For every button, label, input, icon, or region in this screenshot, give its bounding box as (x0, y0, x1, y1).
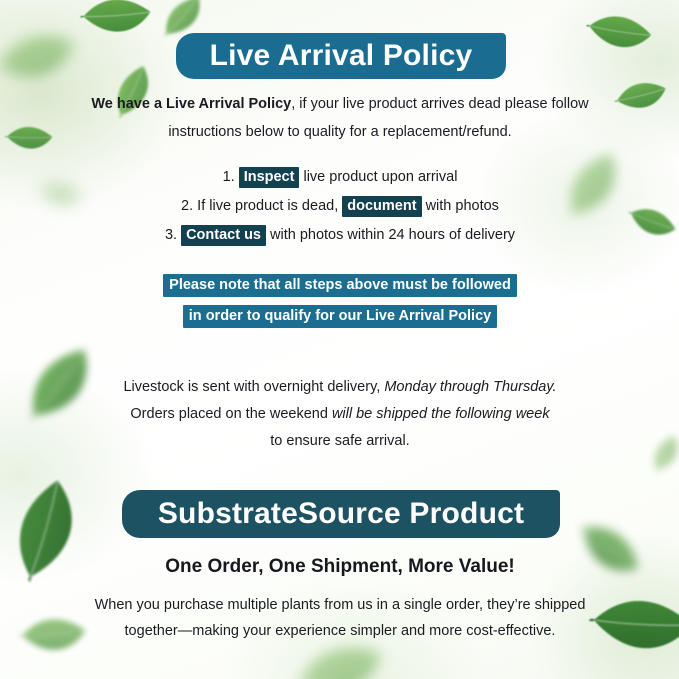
leaf-left-blur-top-icon (0, 20, 78, 95)
step-2-number: 2. (181, 198, 193, 214)
policy-notice-block: Please note that all steps above must be… (60, 272, 620, 334)
policy-step-3: 3. Contact us with photos within 24 hour… (60, 221, 620, 250)
closing-paragraph: When you purchase multiple plants from u… (60, 592, 620, 644)
leaf-right-mid-icon (625, 194, 679, 250)
leaf-left-small-icon (3, 113, 56, 162)
leaf-top-center-icon (77, 0, 154, 52)
policy-step-2: 2. If live product is dead, document wit… (60, 192, 620, 221)
step-1-text: live product upon arrival (303, 169, 457, 185)
step-2-highlight-document: document (342, 196, 421, 217)
livestock-line-1-italic: Monday through Thursday. (384, 379, 556, 395)
value-tagline: One Order, One Shipment, More Value! (60, 556, 620, 578)
substratesource-product-title: SubstrateSource Product (158, 497, 524, 531)
closing-line-2: together—making your experience simpler … (60, 618, 620, 644)
substratesource-product-banner: SubstrateSource Product (122, 490, 560, 538)
livestock-line-1-text: Livestock is sent with overnight deliver… (123, 379, 380, 395)
leaf-right-lower-small-icon (643, 433, 679, 475)
livestock-line-3: to ensure safe arrival. (60, 428, 620, 455)
livestock-line-1: Livestock is sent with overnight deliver… (60, 374, 620, 401)
livestock-line-2-italic: will be shipped the following week (332, 406, 550, 422)
livestock-line-2-text: Orders placed on the weekend (130, 406, 328, 422)
intro-line-2: instructions below to quality for a repl… (60, 118, 620, 146)
policy-steps-list: 1. Inspect live product upon arrival 2. … (60, 163, 620, 250)
intro-line-1-rest: , if your live product arrives dead plea… (291, 96, 588, 112)
notice-line-2-wrap: in order to qualify for our Live Arrival… (60, 303, 620, 329)
step-3-highlight-contact-us: Contact us (181, 225, 266, 246)
policy-step-1: 1. Inspect live product upon arrival (60, 163, 620, 192)
step-2-text-before: If live product is dead, (197, 198, 338, 214)
livestock-shipping-paragraph: Livestock is sent with overnight deliver… (60, 374, 620, 455)
live-arrival-policy-infographic: Live Arrival Policy We have a Live Arriv… (0, 0, 679, 679)
closing-line-1: When you purchase multiple plants from u… (60, 592, 620, 618)
livestock-line-2: Orders placed on the weekend will be shi… (60, 401, 620, 428)
intro-paragraph: We have a Live Arrival Policy, if your l… (60, 90, 620, 146)
notice-line-1: Please note that all steps above must be… (163, 274, 517, 297)
step-3-text: with photos within 24 hours of delivery (270, 227, 515, 243)
step-1-highlight-inspect: Inspect (239, 167, 300, 188)
notice-line-1-wrap: Please note that all steps above must be… (60, 272, 620, 298)
leaf-top-far-right-icon (583, 0, 656, 67)
live-arrival-policy-banner: Live Arrival Policy (176, 33, 506, 79)
intro-line-1: We have a Live Arrival Policy, if your l… (60, 90, 620, 118)
notice-line-2: in order to qualify for our Live Arrival… (183, 305, 497, 328)
step-2-text-after: with photos (426, 198, 499, 214)
leaf-upper-right-mid-icon (614, 72, 669, 120)
intro-bold-lead: We have a Live Arrival Policy (91, 96, 291, 112)
live-arrival-policy-title: Live Arrival Policy (210, 39, 473, 73)
step-1-number: 1. (223, 169, 235, 185)
step-3-number: 3. (165, 227, 177, 243)
